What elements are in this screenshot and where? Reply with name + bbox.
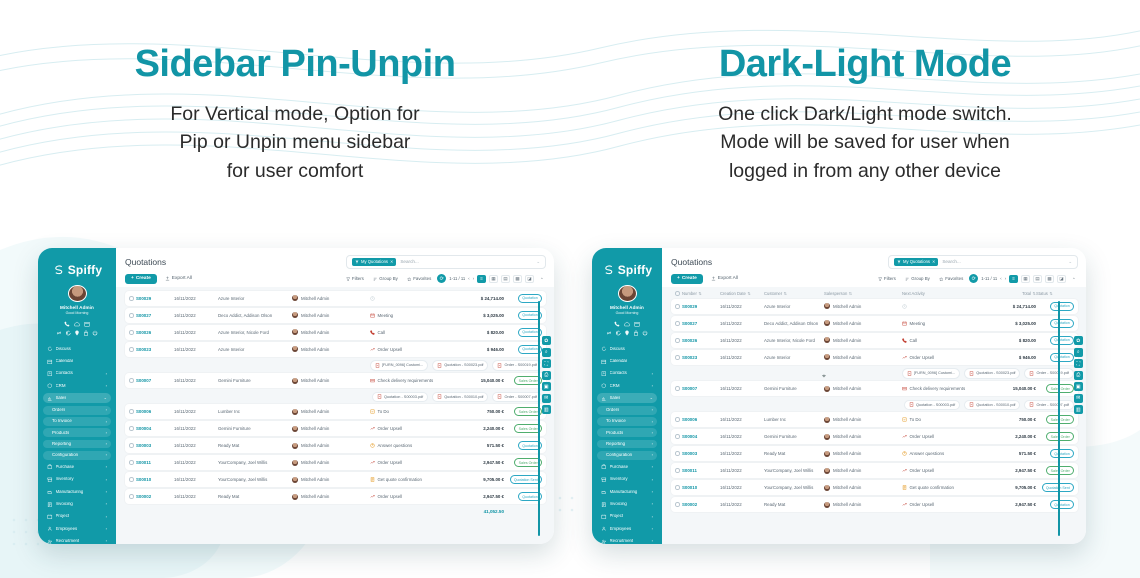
chevron-right-icon[interactable]: › — [106, 420, 107, 424]
column-header-status[interactable]: Status⇅ — [1036, 291, 1074, 296]
column-header-next-activity[interactable]: Next Activity — [902, 291, 990, 296]
sidebar-item-crm[interactable]: CRM› — [43, 381, 111, 391]
cell-number[interactable]: S00002 — [136, 494, 174, 499]
table-row[interactable]: S0002916/11/2022Azure InteriorMitchell A… — [125, 291, 546, 306]
mail-icon[interactable]: ✉ — [542, 394, 552, 403]
row-checkbox[interactable] — [129, 409, 136, 414]
search-input-right[interactable]: My Quotations ✕ Search... ⌄ — [888, 255, 1078, 269]
sidebar-item-discuss[interactable]: Discuss — [43, 344, 111, 354]
chevron-right-icon[interactable]: › — [106, 408, 107, 412]
cell-total: $ 3,025.00 — [458, 313, 504, 318]
sort-icon[interactable]: ⇅ — [1049, 291, 1053, 296]
sidebar-item-calendar[interactable]: Calendar — [43, 356, 111, 366]
sidebar-item-invoicing[interactable]: Invoicing› — [43, 499, 111, 509]
link-icon[interactable] — [606, 330, 612, 336]
cell-salesperson: Mitchell Admin — [292, 477, 370, 483]
table-row[interactable]: S0000316/11/2022Ready MatMitchell AdminA… — [671, 446, 1078, 461]
activity-view-icon[interactable]: ◔ — [537, 275, 546, 283]
create-button-right[interactable]: + Create — [671, 274, 703, 284]
pager-right: 1-11 / 11 — [981, 276, 997, 281]
attachment-chip[interactable]: Order - S00019.pdf — [492, 360, 542, 370]
attachment-chip[interactable]: [FURN_0096] Customi... — [370, 360, 428, 370]
sidebar-item-orders[interactable]: Orders› — [43, 406, 111, 415]
column-header-creation-date[interactable]: Creation Date⇅ — [720, 291, 764, 296]
export-button-right[interactable]: Export All — [707, 274, 742, 284]
table-row[interactable]: S0000716/11/2022Gemini FurnitureMitchell… — [125, 373, 546, 388]
export-button-left[interactable]: Export All — [161, 274, 196, 284]
groupby-button-left[interactable]: Group By — [370, 274, 401, 283]
project-icon — [47, 514, 53, 520]
list-view-icon[interactable]: ≡ — [477, 275, 486, 283]
avatar — [292, 426, 298, 432]
cell-salesperson-label: Mitchell Admin — [301, 409, 329, 414]
sidebar-item-manufacturing[interactable]: Manufacturing› — [43, 487, 111, 497]
sidebar-item-contacts[interactable]: Contacts› — [43, 369, 111, 379]
sort-icon[interactable]: ⇅ — [849, 291, 853, 296]
next-page-icon[interactable]: › — [1005, 276, 1006, 281]
avatar — [292, 295, 298, 301]
table-row[interactable]: S0000416/11/2022Gemini FurnitureMitchell… — [671, 429, 1078, 444]
attachment-chip-label: Quotation - S00003.pdf — [916, 403, 955, 407]
phone-icon[interactable] — [614, 321, 620, 327]
sidebar-item-recruitment[interactable]: Recruitment› — [597, 537, 657, 545]
cell-number[interactable]: S00026 — [136, 330, 174, 335]
pin-icon[interactable] — [74, 330, 80, 336]
kanban-view-icon[interactable]: ▦ — [1021, 275, 1030, 283]
calendar-icon[interactable] — [634, 321, 640, 327]
cell-creation-date: 16/11/2022 — [174, 409, 218, 414]
lock-icon[interactable] — [83, 330, 89, 336]
sidebar-item-contacts[interactable]: Contacts› — [597, 369, 657, 379]
cell-number[interactable]: S00027 — [682, 321, 720, 326]
row-checkbox[interactable] — [675, 417, 682, 422]
cell-number[interactable]: S00011 — [136, 460, 174, 465]
cell-number[interactable]: S00004 — [682, 434, 720, 439]
sidebar-item-inventory[interactable]: Inventory› — [43, 475, 111, 485]
chevron-right-icon[interactable]: › — [652, 465, 653, 469]
search-facet-right[interactable]: My Quotations ✕ — [894, 258, 938, 266]
meeting-icon — [370, 313, 375, 318]
chevron-right-icon[interactable]: › — [106, 527, 107, 531]
table-row[interactable]: S0002616/11/2022Azure Interior, Nicole F… — [125, 325, 546, 340]
calendar-view-icon[interactable]: ▤ — [501, 275, 510, 283]
table-row[interactable]: S0000216/11/2022Ready MatMitchell AdminO… — [671, 497, 1078, 512]
export-icon — [165, 276, 170, 281]
quick-icons-row-1-left[interactable] — [43, 321, 111, 327]
funnel-icon — [878, 277, 882, 281]
sidebar-item-project[interactable]: Project› — [43, 512, 111, 522]
float-toolbar-right[interactable]: ✿⌕⛶⎙▣✉▥ — [1074, 336, 1084, 414]
sidebar-item-employees[interactable]: Employees› — [43, 524, 111, 534]
cell-salesperson: Mitchell Admin — [824, 502, 902, 508]
cell-number[interactable]: S00007 — [136, 378, 174, 383]
column-header-customer[interactable]: Customer⇅ — [764, 291, 824, 296]
chevron-right-icon[interactable]: › — [106, 453, 107, 457]
cell-status: Quotation — [504, 294, 542, 303]
cell-number[interactable]: S00007 — [682, 386, 720, 391]
chevron-right-icon[interactable]: › — [106, 384, 107, 388]
sidebar-item-purchase[interactable]: Purchase› — [597, 462, 657, 472]
row-checkbox[interactable] — [129, 378, 136, 383]
avatar — [292, 494, 298, 500]
cell-number[interactable]: S00027 — [136, 313, 174, 318]
column-header-total[interactable]: Total⇅ — [990, 291, 1036, 296]
row-checkbox[interactable] — [675, 386, 682, 391]
page-title-right: Quotations — [671, 257, 712, 267]
cell-next-activity — [902, 304, 990, 309]
mail-icon[interactable]: ✉ — [1074, 394, 1084, 403]
filters-button-right[interactable]: Filters — [875, 274, 899, 283]
calendar-view-icon[interactable]: ▤ — [1033, 275, 1042, 283]
page-title-left: Quotations — [125, 257, 166, 267]
cell-status: Sales Order — [504, 407, 542, 416]
home-icon[interactable] — [74, 321, 80, 327]
create-button-left[interactable]: + Create — [125, 274, 157, 284]
home-icon[interactable] — [624, 321, 630, 327]
toolbar-left[interactable]: + Create Export All Filters Group By — [125, 274, 546, 284]
chevron-right-icon[interactable]: › — [652, 420, 653, 424]
cell-number[interactable]: S00026 — [682, 338, 720, 343]
row-checkbox[interactable] — [129, 477, 136, 482]
table-row[interactable]: S0001116/11/2022YourCompany, Joel Willis… — [125, 455, 546, 470]
graph-view-icon[interactable]: ◪ — [1057, 275, 1066, 283]
cell-status: Sales Order — [504, 376, 542, 385]
cell-number[interactable]: S00003 — [682, 451, 720, 456]
row-checkbox[interactable] — [675, 451, 682, 456]
row-checkbox[interactable] — [129, 330, 136, 335]
table-rows-right: S0002916/11/2022Azure InteriorMitchell A… — [671, 299, 1078, 512]
favorites-button-right[interactable]: Favorites — [936, 274, 966, 283]
table-row[interactable]: S0002916/11/2022Azure InteriorMitchell A… — [671, 299, 1078, 314]
cell-total: 2,947.50 € — [990, 468, 1036, 473]
chevron-right-icon[interactable]: › — [652, 539, 653, 543]
table-row[interactable]: S0000616/11/2022Lumber IncMitchell Admin… — [125, 404, 546, 419]
list-view-icon[interactable]: ≡ — [1009, 275, 1018, 283]
prev-page-icon[interactable]: ‹ — [468, 276, 469, 281]
attachment-chip[interactable]: Quotation - S00023.pdf — [964, 368, 1020, 378]
chevron-right-icon[interactable]: › — [652, 442, 653, 446]
chevron-right-icon[interactable]: › — [106, 478, 107, 482]
attachment-chip-label: Order - S00007.pdf — [1036, 403, 1069, 407]
chevron-right-icon[interactable]: › — [652, 372, 653, 376]
cell-next-activity: Order Upsell — [902, 502, 990, 507]
filters-label-left: Filters — [352, 276, 364, 281]
groupby-button-right[interactable]: Group By — [902, 274, 933, 283]
row-checkbox[interactable] — [129, 426, 136, 431]
column-header-salesperson[interactable]: Salesperson⇅ — [824, 291, 902, 296]
sidebar-item-sales[interactable]: Sales⌄ — [43, 393, 111, 403]
refresh-icon[interactable]: ⟳ — [437, 274, 446, 283]
chevron-right-icon[interactable]: › — [652, 502, 653, 506]
cell-status: Quotation — [504, 441, 542, 450]
cell-salesperson: Mitchell Admin — [824, 303, 902, 309]
column-header-label: Next Activity — [902, 291, 925, 296]
file-pdf-icon — [1029, 402, 1034, 407]
cell-total: $ 24,714.00 — [990, 304, 1036, 309]
print-icon[interactable]: ⎙ — [1074, 371, 1084, 380]
avatar-right[interactable] — [618, 285, 637, 302]
cell-total: 750.00 € — [458, 409, 504, 414]
chevron-down-icon[interactable]: ⌄ — [650, 396, 653, 400]
chevron-right-icon[interactable]: › — [106, 372, 107, 376]
cell-next-activity-label: Check delivery requirements — [910, 386, 966, 391]
cell-total: 15,040.00 € — [990, 386, 1036, 391]
attachment-chip[interactable]: Quotation - S00010.pdf — [964, 400, 1020, 410]
cell-number[interactable]: S00002 — [682, 502, 720, 507]
attachment-chip[interactable]: Quotation - S00003.pdf — [904, 400, 960, 410]
cell-status: Sales Order — [1036, 384, 1074, 393]
attachment-chip[interactable]: Quotation - S00010.pdf — [432, 392, 488, 402]
table-row[interactable]: S0001016/11/2022YourCompany, Joel Willis… — [671, 480, 1078, 495]
sort-icon[interactable]: ⇅ — [747, 291, 751, 296]
cell-creation-date: 16/11/2022 — [174, 477, 218, 482]
chevron-right-icon[interactable]: › — [652, 408, 653, 412]
sidebar-item-orders[interactable]: Orders› — [597, 406, 657, 415]
attachment-chip[interactable]: Quotation - S00003.pdf — [372, 392, 428, 402]
attachment-chip[interactable]: Order - S00019.pdf — [1024, 368, 1074, 378]
sidebar-item-configuration[interactable]: Configuration› — [43, 451, 111, 460]
sidebar-item-discuss[interactable]: Discuss — [597, 344, 657, 354]
pin-icon[interactable] — [624, 330, 630, 336]
float-toolbar-left[interactable]: ✿⌕⛶⎙▣✉▥ — [542, 336, 552, 414]
chat-icon[interactable] — [615, 330, 621, 336]
attachment-chip[interactable]: Order - S00007.pdf — [1024, 400, 1074, 410]
sidebar-item-invoicing[interactable]: Invoicing› — [597, 499, 657, 509]
scrollbar-left[interactable] — [538, 301, 540, 536]
sidebar-item-manufacturing[interactable]: Manufacturing› — [597, 487, 657, 497]
cell-number[interactable]: S00029 — [136, 296, 174, 301]
cell-salesperson-label: Mitchell Admin — [301, 443, 329, 448]
table-row[interactable]: S0001016/11/2022YourCompany, Joel Willis… — [125, 472, 546, 487]
toolbar-right[interactable]: + Create Export All Filters Group By — [671, 274, 1078, 284]
cell-number[interactable]: S00010 — [136, 477, 174, 482]
search-placeholder-left: Search... — [400, 259, 418, 264]
table-row[interactable]: S0002316/11/2022Azure InteriorMitchell A… — [125, 342, 546, 357]
sidebar-menu-left[interactable]: DiscussCalendarContacts›CRM›Sales⌄Orders… — [43, 344, 111, 544]
sidebar-item-reporting[interactable]: Reporting› — [43, 440, 111, 449]
close-icon[interactable]: ✕ — [932, 259, 935, 264]
cell-salesperson-label: Mitchell Admin — [301, 313, 329, 318]
scrollbar-right[interactable] — [1058, 301, 1060, 536]
chevron-down-icon[interactable]: ⌄ — [1068, 259, 1072, 265]
row-checkbox[interactable] — [129, 494, 136, 499]
settings-icon[interactable]: ✿ — [542, 336, 552, 345]
sidebar-item-to-invoice[interactable]: To Invoice› — [43, 417, 111, 426]
chevron-right-icon[interactable]: › — [652, 431, 653, 435]
sort-icon[interactable]: ⇅ — [784, 291, 788, 296]
status-badge: Quotation — [1050, 319, 1074, 328]
kanban-view-icon[interactable]: ▦ — [489, 275, 498, 283]
sidebar-item-purchase[interactable]: Purchase› — [43, 462, 111, 472]
cell-next-activity: Order Upsell — [370, 426, 458, 431]
row-checkbox[interactable] — [675, 434, 682, 439]
chevron-right-icon[interactable]: › — [106, 515, 107, 519]
sidebar-menu-right[interactable]: DiscussCalendarContacts›CRM›Sales⌄Orders… — [597, 344, 657, 544]
row-checkbox[interactable] — [675, 321, 682, 326]
chevron-right-icon[interactable]: › — [652, 527, 653, 531]
cell-number[interactable]: S00011 — [682, 468, 720, 473]
search-icon[interactable]: ⌕ — [542, 348, 552, 357]
activity-view-icon[interactable]: ◔ — [1069, 275, 1078, 283]
attachment-chip[interactable]: Quotation - S00023.pdf — [432, 360, 488, 370]
cell-number[interactable]: S00006 — [682, 417, 720, 422]
sidebar-item-products[interactable]: Products› — [597, 428, 657, 437]
quick-icons-row-2-right[interactable] — [597, 330, 657, 336]
sidebar-item-employees[interactable]: Employees› — [597, 524, 657, 534]
cell-next-activity-label: Meeting — [910, 321, 926, 326]
cell-number[interactable]: S00023 — [136, 347, 174, 352]
row-checkbox[interactable] — [675, 338, 682, 343]
brand-logo-left: Spiffy — [43, 263, 111, 277]
power-icon[interactable] — [92, 330, 98, 336]
table-row[interactable]: S0002716/11/2022Deco Addict, Addison Ols… — [671, 316, 1078, 331]
chevron-right-icon[interactable]: › — [652, 490, 653, 494]
sidebar-item-calendar[interactable]: Calendar — [597, 356, 657, 366]
row-checkbox[interactable] — [675, 485, 682, 490]
sidebar-item-reporting[interactable]: Reporting› — [597, 440, 657, 449]
table-row[interactable]: S0001116/11/2022YourCompany, Joel Willis… — [671, 463, 1078, 478]
chevron-right-icon[interactable]: › — [106, 539, 107, 543]
sort-icon[interactable]: ⇅ — [698, 291, 702, 296]
sidebar-item-products[interactable]: Products› — [43, 428, 111, 437]
attachment-chip-label: Order - S00019.pdf — [504, 363, 537, 367]
row-checkbox[interactable] — [129, 460, 136, 465]
search-icon[interactable]: ⌕ — [1074, 348, 1084, 357]
table-row[interactable]: S0000616/11/2022Lumber IncMitchell Admin… — [671, 412, 1078, 427]
select-all-checkbox[interactable] — [675, 291, 682, 296]
avatar — [824, 485, 830, 491]
refresh-icon[interactable]: ⟳ — [969, 274, 978, 283]
chevron-down-icon[interactable]: ⌄ — [104, 396, 107, 400]
power-icon[interactable] — [642, 330, 648, 336]
row-checkbox[interactable] — [675, 502, 682, 507]
inventory-icon — [47, 477, 53, 483]
cell-number[interactable]: S00023 — [682, 355, 720, 360]
chevron-right-icon[interactable]: › — [652, 515, 653, 519]
row-checkbox[interactable] — [129, 347, 136, 352]
group-icon — [905, 277, 909, 281]
chevron-right-icon[interactable]: › — [652, 384, 653, 388]
table-row[interactable]: S0000416/11/2022Gemini FurnitureMitchell… — [125, 421, 546, 436]
chart-icon[interactable]: ▥ — [1074, 405, 1084, 414]
sidebar-item-configuration[interactable]: Configuration› — [597, 451, 657, 460]
link-icon[interactable] — [56, 330, 62, 336]
chevron-right-icon[interactable]: › — [106, 502, 107, 506]
phone-icon[interactable] — [64, 321, 70, 327]
cell-number[interactable]: S00029 — [682, 304, 720, 309]
chevron-right-icon[interactable]: › — [106, 490, 107, 494]
settings-icon[interactable]: ✿ — [1074, 336, 1084, 345]
cell-status: Quotation — [1036, 302, 1074, 311]
crm-icon — [601, 383, 607, 389]
invoicing-icon — [47, 502, 53, 508]
table-row[interactable]: S0002716/11/2022Deco Addict, Addison Ols… — [125, 308, 546, 323]
expand-icon[interactable]: ⛶ — [542, 359, 552, 368]
row-checkbox[interactable] — [675, 304, 682, 309]
pivot-view-icon[interactable]: ▩ — [1045, 275, 1054, 283]
print-icon[interactable]: ⎙ — [542, 371, 552, 380]
sort-icon[interactable]: ⇅ — [1032, 291, 1036, 296]
search-facet-left[interactable]: My Quotations ✕ — [352, 258, 396, 266]
crm-icon — [47, 383, 53, 389]
chevron-right-icon[interactable]: › — [652, 478, 653, 482]
sidebar-item-recruitment[interactable]: Recruitment› — [43, 537, 111, 545]
avatar — [824, 434, 830, 440]
cell-number[interactable]: S00004 — [136, 426, 174, 431]
chevron-down-icon[interactable]: ⌄ — [536, 259, 540, 265]
cell-next-activity-label: To Do — [910, 417, 921, 422]
chevron-right-icon[interactable]: › — [106, 465, 107, 469]
quick-icons-row-1-right[interactable] — [597, 321, 657, 327]
table-row[interactable]: S0000316/11/2022Ready MatMitchell AdminA… — [125, 438, 546, 453]
cell-creation-date: 16/11/2022 — [174, 347, 218, 352]
table-row[interactable]: S0000716/11/2022Gemini FurnitureMitchell… — [671, 381, 1078, 396]
sidebar-item-crm[interactable]: CRM› — [597, 381, 657, 391]
attachment-chip[interactable]: Order - S00007.pdf — [492, 392, 542, 402]
row-checkbox[interactable] — [129, 313, 136, 318]
table-row[interactable]: S0002316/11/2022Azure InteriorMitchell A… — [671, 350, 1078, 365]
chart-icon[interactable]: ▥ — [542, 405, 552, 414]
avatar-left[interactable] — [68, 285, 87, 302]
row-checkbox[interactable] — [129, 443, 136, 448]
chevron-right-icon[interactable]: › — [106, 442, 107, 446]
row-checkbox[interactable] — [129, 296, 136, 301]
upsell-icon — [370, 494, 375, 499]
save-icon[interactable]: ▣ — [1074, 382, 1084, 391]
search-input-left[interactable]: My Quotations ✕ Search... ⌄ — [346, 255, 546, 269]
spiffy-logo-icon — [52, 264, 65, 277]
calendar-icon[interactable] — [84, 321, 90, 327]
cell-next-activity-label: Order Upsell — [910, 434, 935, 439]
cell-status: Quotation — [504, 492, 542, 501]
status-badge: Sales Order — [1046, 384, 1074, 393]
sidebar-item-sales[interactable]: Sales⌄ — [597, 393, 657, 403]
sidebar-item-to-invoice[interactable]: To Invoice› — [597, 417, 657, 426]
sidebar-item-project[interactable]: Project› — [597, 512, 657, 522]
chevron-right-icon[interactable]: › — [106, 431, 107, 435]
prev-page-icon[interactable]: ‹ — [1000, 276, 1001, 281]
chat-icon[interactable] — [65, 330, 71, 336]
cell-next-activity: Order Upsell — [370, 494, 458, 499]
quick-icons-row-2-left[interactable] — [43, 330, 111, 336]
filters-button-left[interactable]: Filters — [343, 274, 367, 283]
lock-icon[interactable] — [633, 330, 639, 336]
sidebar-item-inventory[interactable]: Inventory› — [597, 475, 657, 485]
attachment-chip-label: [FURN_0096] Customi... — [382, 363, 423, 367]
cell-number[interactable]: S00006 — [136, 409, 174, 414]
brand-logo-right: Spiffy — [597, 263, 657, 277]
graph-view-icon[interactable]: ◪ — [525, 275, 534, 283]
column-header-number[interactable]: Number⇅ — [682, 291, 720, 296]
pivot-view-icon[interactable]: ▩ — [513, 275, 522, 283]
attachment-chip-label: Order - S00007.pdf — [504, 395, 537, 399]
row-checkbox[interactable] — [675, 468, 682, 473]
inventory-icon — [601, 477, 607, 483]
cell-salesperson-label: Mitchell Admin — [833, 355, 861, 360]
cell-number[interactable]: S00010 — [682, 485, 720, 490]
cell-number[interactable]: S00003 — [136, 443, 174, 448]
next-page-icon[interactable]: › — [473, 276, 474, 281]
table-row[interactable]: S0000216/11/2022Ready MatMitchell AdminO… — [125, 489, 546, 504]
favorites-button-left[interactable]: Favorites — [404, 274, 434, 283]
chevron-right-icon[interactable]: › — [652, 453, 653, 457]
save-icon[interactable]: ▣ — [542, 382, 552, 391]
row-checkbox[interactable] — [675, 355, 682, 360]
expand-icon[interactable]: ⛶ — [1074, 359, 1084, 368]
table-row[interactable]: S0002616/11/2022Azure Interior, Nicole F… — [671, 333, 1078, 348]
close-icon[interactable]: ✕ — [390, 259, 393, 264]
attachment-chip[interactable]: [FURN_0096] Customi... — [902, 368, 960, 378]
